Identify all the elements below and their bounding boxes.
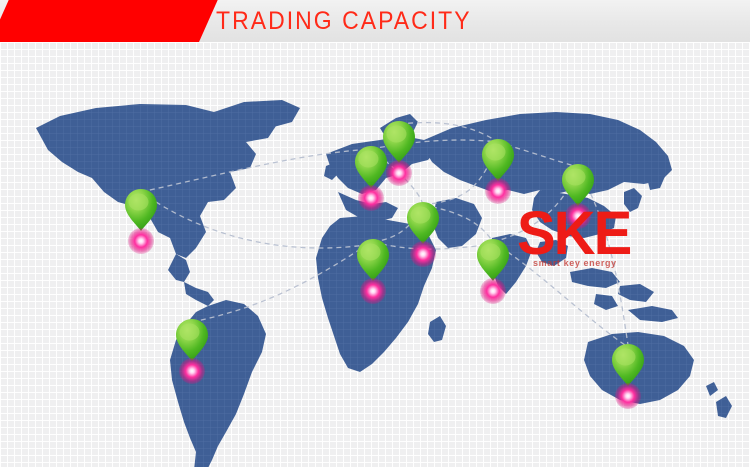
location-pin-icon: [481, 138, 515, 182]
page-header: TRADING CAPACITY: [0, 0, 750, 42]
logo-wordmark: SKE: [517, 205, 643, 262]
map-marker-northern-europe[interactable]: [382, 120, 416, 172]
marker-hotspot: [179, 358, 205, 384]
marker-hotspot: [480, 278, 506, 304]
marker-hotspot: [386, 160, 412, 186]
map-marker-australia[interactable]: [611, 343, 645, 395]
location-pin-icon: [124, 188, 158, 232]
marker-hotspot: [410, 241, 436, 267]
header-accent-block: [0, 0, 214, 42]
marker-hotspot: [128, 228, 154, 254]
map-marker-north-africa[interactable]: [356, 238, 390, 290]
brand-logo: SKE smart key energy: [517, 205, 643, 279]
page-title: TRADING CAPACITY: [216, 0, 472, 42]
location-pin-icon: [611, 343, 645, 387]
location-pin-icon: [356, 238, 390, 282]
trading-capacity-banner: TRADING CAPACITY: [0, 0, 750, 467]
marker-hotspot: [358, 185, 384, 211]
map-marker-north-america[interactable]: [124, 188, 158, 240]
map-marker-south-asia[interactable]: [476, 238, 510, 290]
location-pin-icon: [382, 120, 416, 164]
logo-tagline: smart key energy: [533, 258, 617, 268]
location-pin-icon: [406, 201, 440, 245]
map-marker-south-america[interactable]: [175, 318, 209, 370]
world-map-panel: SKE smart key energy: [0, 42, 750, 467]
marker-hotspot: [485, 178, 511, 204]
map-marker-central-asia[interactable]: [481, 138, 515, 190]
location-pin-icon: [175, 318, 209, 362]
marker-hotspot: [615, 383, 641, 409]
map-marker-eastern-europe[interactable]: [406, 201, 440, 253]
location-pin-icon: [476, 238, 510, 282]
marker-hotspot: [360, 278, 386, 304]
